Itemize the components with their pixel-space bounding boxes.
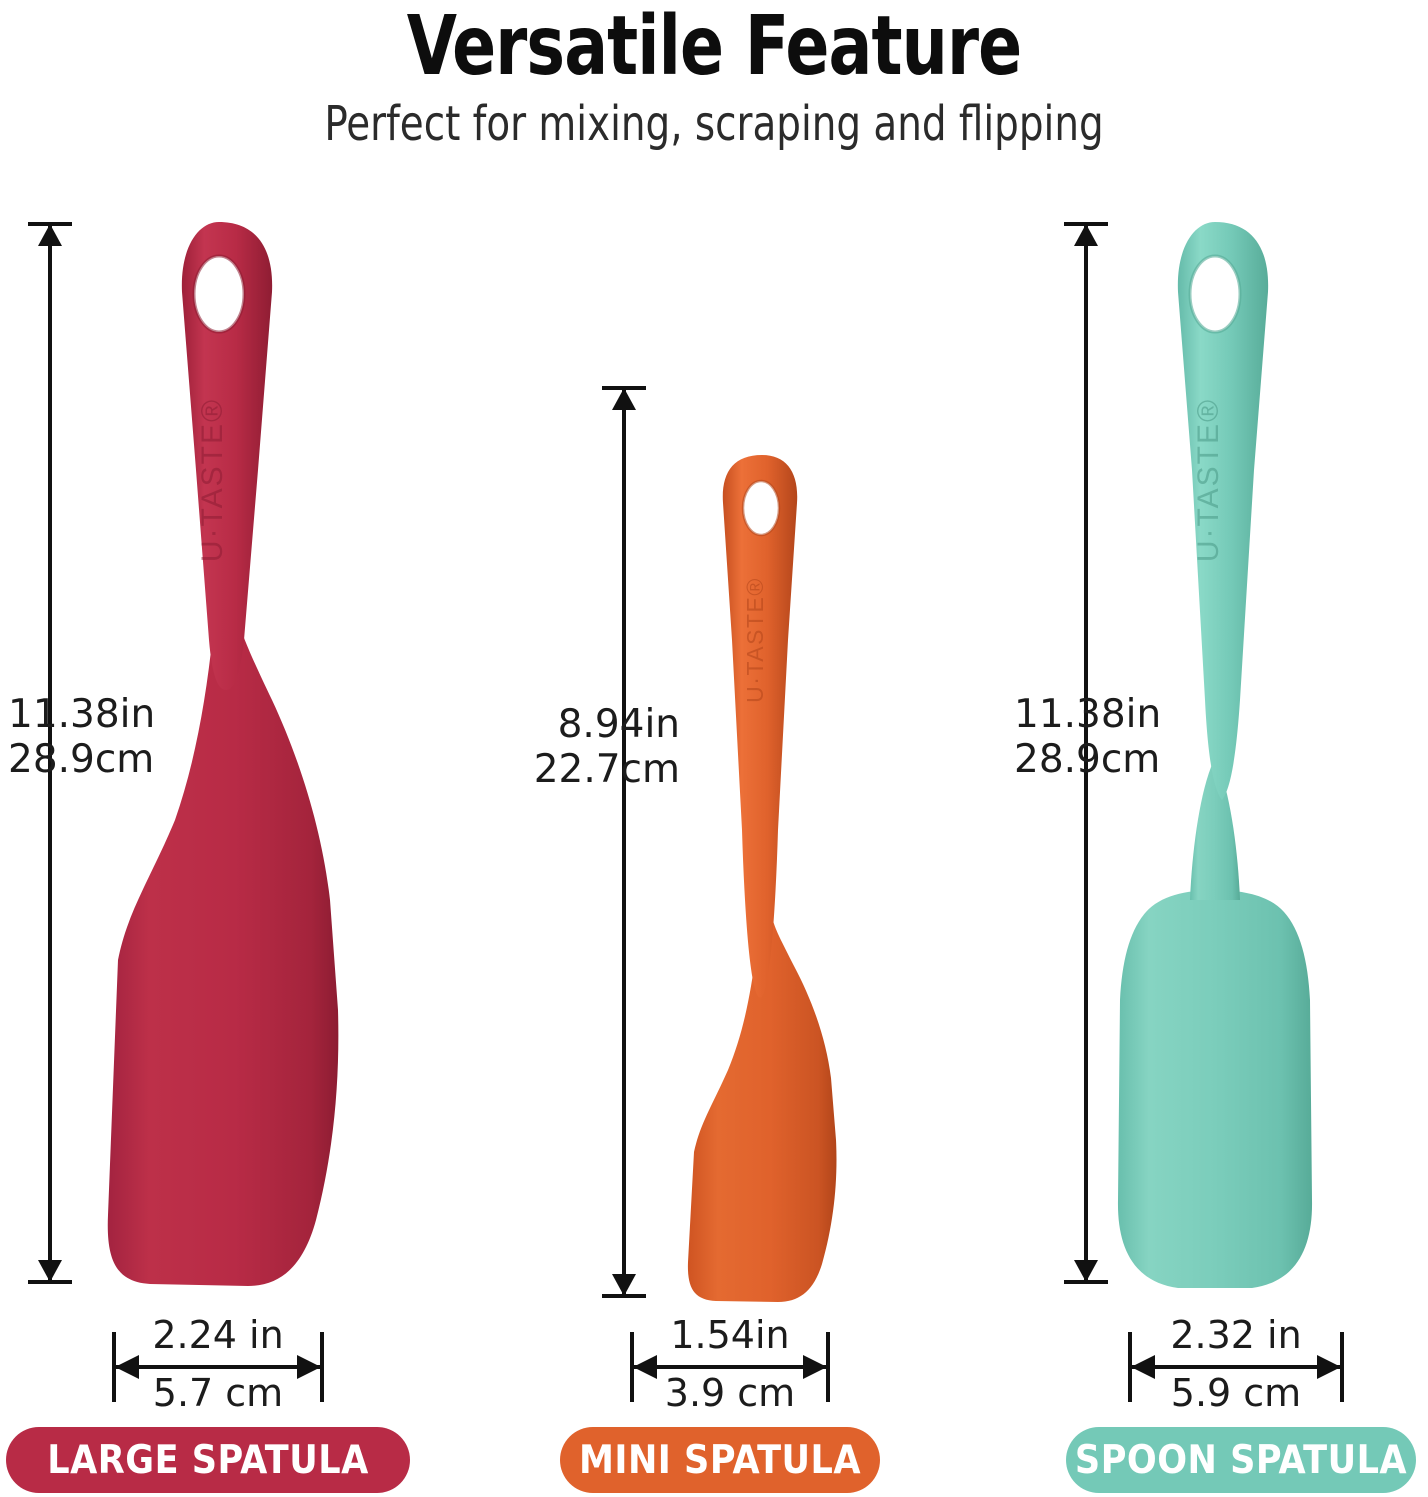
dimension-cap-bottom — [28, 1280, 72, 1284]
brand-emboss: U·TASTE® — [196, 398, 229, 562]
badge-label: MINI SPATULA — [579, 1438, 861, 1483]
brand-emboss: U·TASTE® — [1192, 398, 1225, 562]
width-cm-label: 5.9 cm — [1088, 1372, 1384, 1414]
brand-emboss: U·TASTE® — [742, 577, 768, 703]
length-cm-label: 28.9cm — [8, 737, 218, 782]
large-spatula-illustration: U·TASTE® — [0, 0, 440, 1330]
length-inches-label: 11.38in — [8, 692, 218, 737]
width-dimension-mini: 1.54in 3.9 cm — [630, 1312, 830, 1422]
badge-large-spatula[interactable]: LARGE SPATULA — [6, 1427, 410, 1493]
width-dimension-large: 2.24 in 5.7 cm — [112, 1312, 324, 1422]
dimension-line — [112, 1365, 324, 1369]
width-dimension-spoon: 2.32 in 5.9 cm — [1128, 1312, 1344, 1422]
arrow-down-icon — [612, 1274, 636, 1296]
length-cm-label: 28.9cm — [1014, 737, 1214, 782]
product-column-mini-spatula: U·TASTE® 8.94in 22.7cm 1.54in 3.9 cm — [500, 0, 920, 1497]
spoon-spatula-illustration: U·TASTE® — [1000, 0, 1428, 1330]
arrow-up-icon — [612, 388, 636, 410]
dimension-cap-bottom — [602, 1294, 646, 1298]
product-infographic: Versatile Feature Perfect for mixing, sc… — [0, 0, 1428, 1497]
arrow-up-icon — [1074, 224, 1098, 246]
width-cm-label: 3.9 cm — [590, 1372, 870, 1414]
arrow-down-icon — [1074, 1260, 1098, 1282]
length-inches-label: 8.94in — [490, 702, 680, 747]
product-column-large-spatula: U·TASTE® 11.38in 28.9cm 2.24 in 5.7 cm — [0, 0, 440, 1497]
badge-spoon-spatula[interactable]: SPOON SPATULA — [1066, 1427, 1416, 1493]
width-cm-label: 5.7 cm — [72, 1372, 364, 1414]
dimension-line — [1128, 1365, 1344, 1369]
dimension-cap-bottom — [1064, 1280, 1108, 1284]
length-inches-label: 11.38in — [1014, 692, 1214, 737]
arrow-up-icon — [38, 224, 62, 246]
badge-mini-spatula[interactable]: MINI SPATULA — [560, 1427, 880, 1493]
arrow-down-icon — [38, 1260, 62, 1282]
dimension-line — [630, 1365, 830, 1369]
badge-label: SPOON SPATULA — [1075, 1438, 1407, 1483]
dimension-line — [622, 386, 626, 1298]
product-column-spoon-spatula: U·TASTE® 11.38in 28.9cm 2.32 in 5.9 cm — [1000, 0, 1428, 1497]
mini-spatula-illustration: U·TASTE® — [500, 0, 920, 1330]
badge-label: LARGE SPATULA — [47, 1438, 368, 1483]
length-cm-label: 22.7cm — [490, 747, 680, 792]
